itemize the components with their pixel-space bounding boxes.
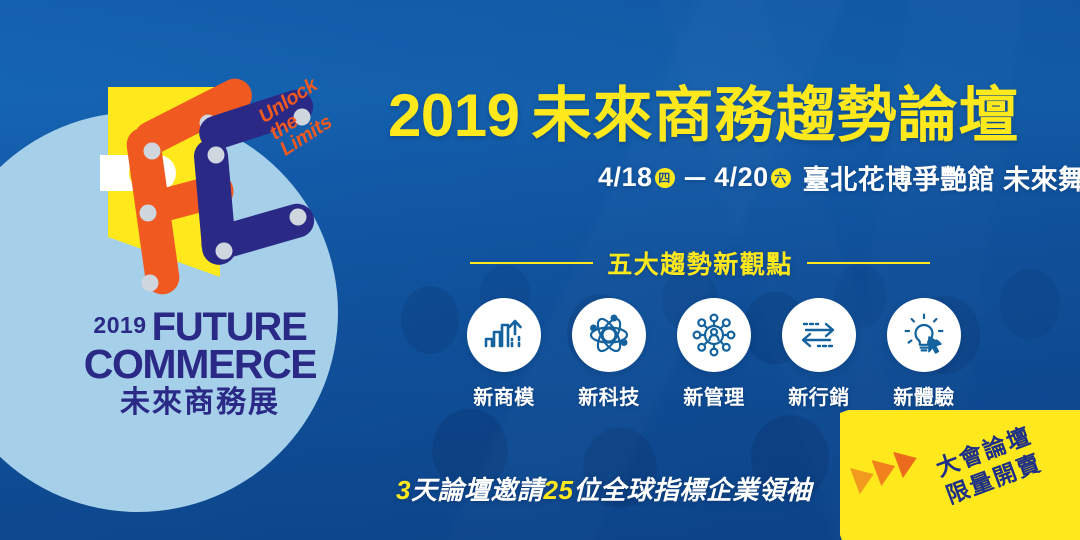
- tagline-days-number: 3: [396, 475, 411, 505]
- title-year: 2019: [388, 82, 519, 149]
- date-start-weekday-badge: 四: [655, 168, 675, 188]
- trend-label: 新商模: [473, 381, 535, 410]
- date-end-weekday-badge: 六: [771, 168, 791, 188]
- bar-chart-growth-icon: [481, 312, 527, 358]
- date-end: 4/20: [714, 162, 769, 193]
- corner-ribbon[interactable]: 大會論壇 限量開賣: [840, 410, 1080, 540]
- tagline-speaker-number: 25: [543, 475, 573, 505]
- tagline-part2: 位全球指標企業領袖: [573, 475, 812, 505]
- trend-item-management[interactable]: 新管理: [672, 298, 756, 410]
- exchange-arrows-icon: [796, 312, 842, 358]
- trend-item-business-model[interactable]: 新商模: [462, 298, 546, 410]
- atom-icon: [586, 312, 632, 358]
- trend-item-marketing[interactable]: 新行銷: [777, 298, 861, 410]
- logo-wordmark: 2019FUTURE COMMERCE 未來商務展: [40, 307, 360, 418]
- logo-year: 2019: [93, 312, 146, 338]
- trend-label: 新管理: [683, 381, 745, 410]
- event-logo: Unlock the Limits 2019FUTURE COMMERCE 未來…: [40, 55, 360, 435]
- speaker-count-tagline: 3天論壇邀請25位全球指標企業領袖: [396, 470, 812, 507]
- venue-name: 臺北花博爭艷館 未來舞台: [803, 158, 1080, 197]
- page-title: 2019未來商務趨勢論壇: [388, 86, 1019, 146]
- promotional-banner: Unlock the Limits 2019FUTURE COMMERCE 未來…: [0, 0, 1080, 540]
- trend-icon-disc: [782, 298, 856, 372]
- heading-rule-left: [470, 262, 593, 264]
- logo-name-zh: 未來商務展: [40, 387, 360, 419]
- heading-rule-right: [807, 262, 930, 264]
- trend-icon-disc: [887, 298, 961, 372]
- trend-icon-disc: [677, 298, 751, 372]
- title-text: 未來商務趨勢論壇: [531, 82, 1019, 149]
- trends-section-heading: 五大趨勢新觀點: [470, 245, 930, 281]
- lightbulb-cursor-icon: [901, 312, 947, 358]
- network-people-icon: [691, 312, 737, 358]
- trend-item-technology[interactable]: 新科技: [567, 298, 651, 410]
- trend-icon-disc: [572, 298, 646, 372]
- trend-label: 新行銷: [788, 381, 850, 410]
- trend-list: 新商模 新科技: [462, 298, 966, 410]
- trend-icon-disc: [467, 298, 541, 372]
- trend-item-experience[interactable]: 新體驗: [882, 298, 966, 410]
- date-start: 4/18: [598, 162, 653, 193]
- trend-label: 新體驗: [893, 381, 955, 410]
- heading-label: 五大趨勢新觀點: [607, 245, 793, 281]
- date-separator: －: [682, 158, 710, 197]
- tagline-part1: 天論壇邀請: [411, 475, 544, 505]
- logo-commerce: COMMERCE: [40, 345, 360, 385]
- trend-label: 新科技: [578, 381, 640, 410]
- event-date-venue: 4/18 四 － 4/20 六 臺北花博爭艷館 未來舞台: [598, 158, 1080, 197]
